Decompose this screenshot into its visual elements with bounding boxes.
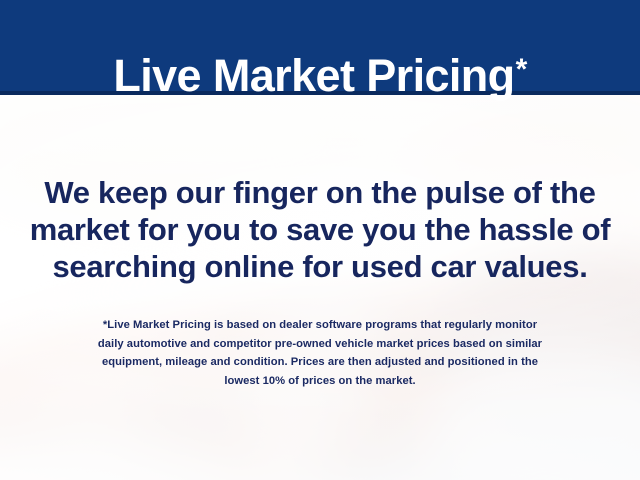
page-title-text: Live Market Pricing [113, 53, 514, 98]
disclaimer-line-3: equipment, mileage and condition. Prices… [24, 353, 616, 372]
content-area: We keep our finger on the pulse of the m… [0, 95, 640, 480]
headline-line-1: We keep our finger on the pulse of the [20, 174, 620, 211]
disclaimer-line-2: daily automotive and competitor pre-owne… [24, 335, 616, 354]
headline-line-2: market for you to save you the hassle of [20, 211, 620, 248]
page-title: Live Market Pricing* [0, 30, 640, 121]
disclaimer-line-1: *Live Market Pricing is based on dealer … [24, 316, 616, 335]
disclaimer-text: *Live Market Pricing is based on dealer … [24, 316, 616, 390]
disclaimer-line-4: lowest 10% of prices on the market. [24, 372, 616, 391]
live-market-pricing-banner: Live Market Pricing* We keep our finger … [0, 0, 640, 480]
headline: We keep our finger on the pulse of the m… [20, 174, 620, 285]
page-title-asterisk: * [516, 55, 527, 85]
headline-line-3: searching online for used car values. [20, 248, 620, 285]
